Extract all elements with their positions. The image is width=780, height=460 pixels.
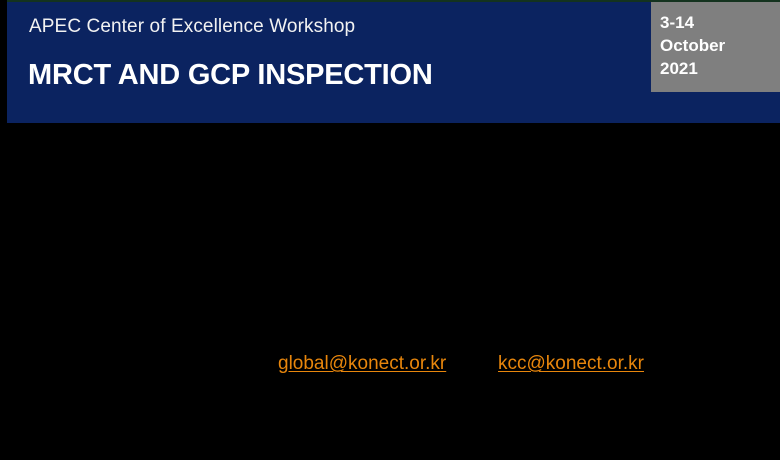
- slide-body: [0, 123, 780, 460]
- page-title: MRCT AND GCP INSPECTION: [28, 57, 433, 93]
- date-badge-month: October: [660, 34, 780, 57]
- date-badge-day-range: 3-14: [660, 11, 780, 34]
- presentation-slide: APEC Center of Excellence Workshop MRCT …: [0, 0, 780, 460]
- email-link-kcc[interactable]: kcc@konect.or.kr: [498, 350, 644, 378]
- date-badge-year: 2021: [660, 57, 780, 80]
- date-badge: 3-14 October 2021: [651, 2, 780, 92]
- contact-links: global@konect.or.kr kcc@konect.or.kr: [0, 350, 780, 380]
- workshop-subtitle: APEC Center of Excellence Workshop: [29, 15, 355, 39]
- email-link-global[interactable]: global@konect.or.kr: [278, 350, 446, 378]
